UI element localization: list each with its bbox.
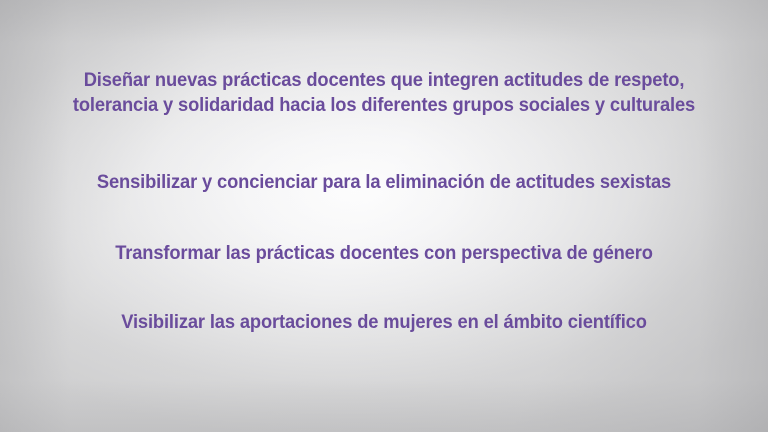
bullet-actitudes-sexistas: Sensibilizar y concienciar para la elimi…: [23, 170, 745, 195]
bullet-mujeres-cientifico: Visibilizar las aportaciones de mujeres …: [23, 310, 745, 335]
presentation-slide: Diseñar nuevas prácticas docentes que in…: [0, 0, 768, 432]
slide-content: Diseñar nuevas prácticas docentes que in…: [0, 0, 768, 432]
bullet-respeto-tolerancia: Diseñar nuevas prácticas docentes que in…: [23, 68, 745, 118]
bullet-perspectiva-genero: Transformar las prácticas docentes con p…: [23, 241, 745, 266]
